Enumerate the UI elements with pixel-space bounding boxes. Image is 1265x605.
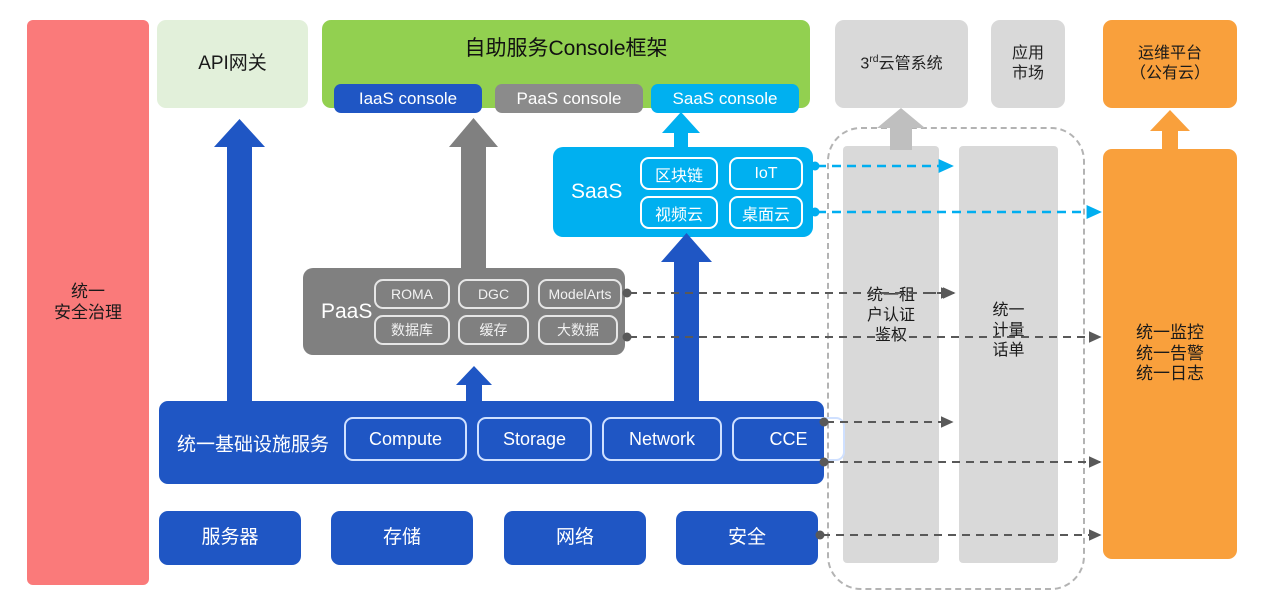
tenant-auth-column: 统一租 户认证 鉴权 [843, 146, 939, 563]
saas-item-desktopcloud-label: 桌面云 [742, 201, 790, 225]
iaas-item-network-label: Network [629, 429, 695, 450]
paas-item-dgc-label: DGC [478, 286, 509, 302]
paas-item-bigdata[interactable]: 大数据 [538, 315, 618, 345]
hardware-box-server-label: 服务器 [201, 526, 258, 549]
saas-item-blockchain-label: 区块链 [655, 162, 703, 186]
arrow-saas-to-saas-console [662, 112, 700, 147]
saas-item-blockchain[interactable]: 区块链 [640, 157, 718, 190]
ops-platform-label: 运维平台 （公有云） [1130, 44, 1210, 83]
saas-layer-label: SaaS [571, 180, 622, 204]
app-market-box[interactable]: 应用 市场 [991, 20, 1065, 108]
paas-item-roma[interactable]: ROMA [374, 279, 450, 309]
hardware-box-server[interactable]: 服务器 [159, 511, 301, 565]
paas-item-database[interactable]: 数据库 [374, 315, 450, 345]
paas-console-chip[interactable]: PaaS console [495, 84, 643, 113]
iaas-item-cce-label: CCE [769, 429, 807, 450]
saas-item-iot[interactable]: IoT [729, 157, 803, 190]
saas-item-iot-label: IoT [754, 165, 777, 183]
paas-item-cache-label: 缓存 [480, 320, 508, 340]
hardware-box-storage[interactable]: 存储 [331, 511, 473, 565]
paas-item-database-label: 数据库 [391, 320, 433, 340]
iaas-item-cce[interactable]: CCE [732, 417, 845, 461]
arrow-iaas-to-api-gateway [214, 119, 265, 401]
unified-infrastructure-label: 统一基础设施服务 [177, 429, 329, 456]
saas-item-videocloud-label: 视频云 [655, 201, 703, 225]
paas-layer: PaaS ROMA DGC ModelArts 数据库 缓存 大数据 [303, 268, 625, 355]
security-governance-label: 统一 安全治理 [54, 282, 122, 323]
metering-billing-column: 统一 计量 话单 [959, 146, 1058, 563]
iaas-item-compute-label: Compute [369, 429, 442, 450]
saas-item-desktopcloud[interactable]: 桌面云 [729, 196, 803, 229]
security-governance-pillar: 统一 安全治理 [27, 20, 149, 585]
ops-platform-box[interactable]: 运维平台 （公有云） [1103, 20, 1237, 108]
hardware-box-security-label: 安全 [728, 526, 766, 549]
self-service-console-frame: 自助服务Console框架 IaaS console PaaS console … [322, 20, 810, 108]
hardware-box-network[interactable]: 网络 [504, 511, 646, 565]
hardware-box-security[interactable]: 安全 [676, 511, 818, 565]
paas-item-cache[interactable]: 缓存 [458, 315, 529, 345]
iaas-console-label: IaaS console [359, 89, 457, 109]
monitoring-pillar-label: 统一监控 统一告警 统一日志 [1136, 323, 1204, 385]
third-party-superscript: rd [869, 54, 878, 65]
metering-billing-label: 统一 计量 话单 [959, 301, 1058, 361]
paas-item-bigdata-label: 大数据 [557, 320, 599, 340]
third-party-cloud-mgmt-box[interactable]: 3rd云管系统 [835, 20, 968, 108]
monitoring-pillar: 统一监控 统一告警 统一日志 [1103, 149, 1237, 559]
api-gateway-box[interactable]: API网关 [157, 20, 308, 108]
paas-item-dgc[interactable]: DGC [458, 279, 529, 309]
paas-layer-label: PaaS [321, 300, 372, 324]
paas-item-modelarts[interactable]: ModelArts [538, 279, 622, 309]
iaas-console-chip[interactable]: IaaS console [334, 84, 482, 113]
paas-console-label: PaaS console [517, 89, 622, 109]
unified-infrastructure-bar: 统一基础设施服务 Compute Storage Network CCE [159, 401, 824, 484]
saas-console-chip[interactable]: SaaS console [651, 84, 799, 113]
saas-layer: SaaS 区块链 IoT 视频云 桌面云 [553, 147, 813, 237]
arrow-monitoring-to-ops-platform [1150, 110, 1190, 149]
paas-item-roma-label: ROMA [391, 286, 433, 302]
iaas-item-compute[interactable]: Compute [344, 417, 467, 461]
arrow-paas-to-console [449, 118, 498, 268]
arrow-iaas-to-paas [456, 366, 492, 401]
paas-item-modelarts-label: ModelArts [548, 286, 611, 302]
third-party-cloud-mgmt-label: 3rd云管系统 [860, 54, 942, 74]
arrow-iaas-to-saas [661, 233, 712, 401]
saas-item-videocloud[interactable]: 视频云 [640, 196, 718, 229]
tenant-auth-label: 统一租 户认证 鉴权 [843, 286, 939, 346]
iaas-item-storage[interactable]: Storage [477, 417, 592, 461]
console-frame-title: 自助服务Console框架 [322, 32, 810, 62]
app-market-label: 应用 市场 [1012, 44, 1044, 83]
api-gateway-label: API网关 [198, 52, 267, 75]
saas-console-label: SaaS console [673, 89, 778, 109]
hardware-box-storage-label: 存储 [383, 526, 421, 549]
architecture-diagram: 统一 安全治理 API网关 自助服务Console框架 IaaS console… [0, 0, 1265, 605]
iaas-item-network[interactable]: Network [602, 417, 722, 461]
hardware-box-network-label: 网络 [556, 526, 594, 549]
iaas-item-storage-label: Storage [503, 429, 566, 450]
